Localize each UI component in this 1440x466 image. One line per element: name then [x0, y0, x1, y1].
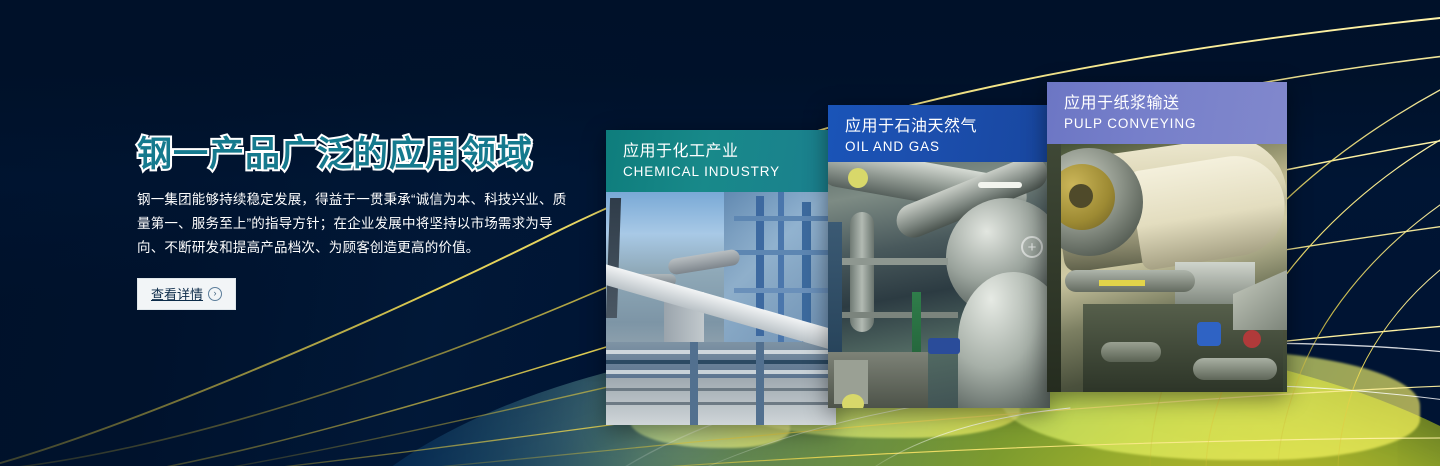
paper-mill-roller-photo: [1047, 144, 1287, 392]
card-header: 应用于化工产业 CHEMICAL INDUSTRY: [606, 130, 836, 192]
plus-icon[interactable]: +: [1021, 236, 1043, 258]
card-title-en: OIL AND GAS: [845, 137, 1050, 156]
chemical-plant-photo: [606, 192, 836, 425]
card-title-cn: 应用于纸浆输送: [1064, 93, 1287, 114]
card-header: 应用于纸浆输送 PULP CONVEYING: [1047, 82, 1287, 144]
hero-banner: 钢一产品广泛的应用领域 钢一集团能够持续稳定发展，得益于一贯秉承“诚信为本、科技…: [0, 0, 1440, 466]
photo-texture: [1047, 144, 1287, 392]
chevron-right-circle-icon: ›: [208, 287, 222, 301]
hero-copy: 钢一产品广泛的应用领域 钢一集团能够持续稳定发展，得益于一贯秉承“诚信为本、科技…: [137, 135, 587, 310]
card-title-en: PULP CONVEYING: [1064, 114, 1287, 133]
view-details-label: 查看详情: [151, 284, 203, 303]
application-card-oil-and-gas[interactable]: + 应用于石油天然气 OIL AND GAS: [828, 105, 1050, 408]
view-details-button[interactable]: 查看详情 ›: [137, 278, 236, 310]
photo-texture: [828, 162, 1050, 408]
card-title-cn: 应用于石油天然气: [845, 116, 1050, 137]
card-title-en: CHEMICAL INDUSTRY: [623, 162, 836, 181]
photo-texture: [606, 192, 836, 425]
page-title: 钢一产品广泛的应用领域: [137, 135, 587, 174]
card-header: 应用于石油天然气 OIL AND GAS: [828, 105, 1050, 162]
application-card-chemical-industry[interactable]: 应用于化工产业 CHEMICAL INDUSTRY: [606, 130, 836, 425]
application-card-pulp-conveying[interactable]: 应用于纸浆输送 PULP CONVEYING: [1047, 82, 1287, 392]
card-title-cn: 应用于化工产业: [623, 141, 836, 162]
hero-description: 钢一集团能够持续稳定发展，得益于一贯秉承“诚信为本、科技兴业、质量第一、服务至上…: [137, 188, 575, 260]
oil-and-gas-piping-photo: [828, 162, 1050, 408]
